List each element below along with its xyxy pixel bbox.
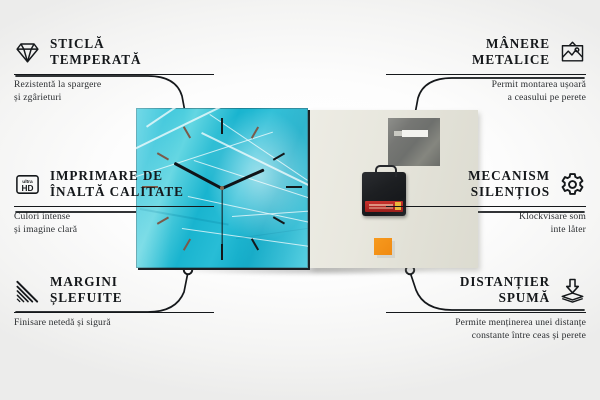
- svg-text:HD: HD: [22, 183, 34, 193]
- ultra-hd-icon: ultra HD: [14, 171, 41, 198]
- callout-subtitle: Finisare netedă și sigură: [14, 317, 214, 330]
- hanger-slot: [402, 130, 428, 137]
- clock-second-hand: [221, 189, 222, 247]
- picture-frame-hanger-icon: [559, 39, 586, 66]
- clock-tick-3: [286, 186, 302, 188]
- callout-subtitle: Rezistentă la spargere și zgârieturi: [14, 79, 214, 105]
- callout-imprimare-calitate: ultra HD IMPRIMARE DE ÎNALTĂ CALITATE Cu…: [14, 168, 214, 237]
- callout-rule: [14, 74, 214, 76]
- callout-subtitle: Permite menținerea unei distanțe constan…: [386, 317, 586, 343]
- clock-center-hub: [220, 186, 224, 190]
- callout-rule: [386, 312, 586, 314]
- infographic-stage: STICLĂ TEMPERATĂ Rezistentă la spargere …: [0, 0, 600, 400]
- polished-edge-icon: [14, 277, 41, 304]
- callout-subtitle: Klockvisare som inte låter: [386, 211, 586, 237]
- diamond-icon: [14, 39, 41, 66]
- callout-subtitle: Culori intense și imagine clară: [14, 211, 214, 237]
- clock-tick-12: [221, 118, 223, 134]
- foam-spacer-arrow-icon: [559, 277, 586, 304]
- callout-rule: [386, 74, 586, 76]
- metal-hanger: [388, 118, 440, 166]
- callout-title: MECANISM SILENȚIOS: [468, 168, 550, 201]
- callout-margini-slefuite: MARGINI ȘLEFUITE Finisare netedă și sigu…: [14, 274, 214, 330]
- callout-distantier-spuma: DISTANȚIER SPUMĂ Permite menținerea unei…: [386, 274, 586, 343]
- callout-manere-metalice: MÂNERE METALICE Permit montarea ușoară a…: [386, 36, 586, 105]
- callout-rule: [386, 206, 586, 208]
- callout-title: IMPRIMARE DE ÎNALTĂ CALITATE: [50, 168, 184, 201]
- callout-mecanism-silentios: MECANISM SILENȚIOS Klockvisare som inte …: [386, 168, 586, 237]
- gear-icon: [559, 171, 586, 198]
- foam-spacer-pad: [374, 238, 392, 255]
- callout-title: DISTANȚIER SPUMĂ: [460, 274, 550, 307]
- callout-title: STICLĂ TEMPERATĂ: [50, 36, 141, 69]
- callout-rule: [14, 312, 214, 314]
- callout-title: MARGINI ȘLEFUITE: [50, 274, 122, 307]
- callout-rule: [14, 206, 214, 208]
- callout-sticla-temperata: STICLĂ TEMPERATĂ Rezistentă la spargere …: [14, 36, 214, 105]
- callout-subtitle: Permit montarea ușoară a ceasului pe per…: [386, 79, 586, 105]
- callout-title: MÂNERE METALICE: [472, 36, 550, 69]
